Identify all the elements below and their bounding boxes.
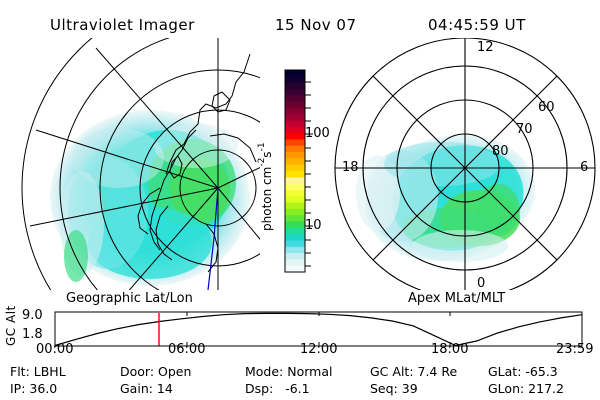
mlt-label-18: 18 — [342, 160, 359, 175]
mlt-latitude-70: 70 — [516, 122, 533, 137]
orbit-altitude-curve — [55, 313, 582, 345]
mlt-subtitle: Apex MLat/MLT — [408, 291, 505, 306]
mlt-label-0: 0 — [477, 276, 485, 291]
status-glat: GLat: -65.3 — [488, 363, 564, 380]
mlt-polar-svg — [330, 38, 600, 290]
time-tick-1200: 12:00 — [300, 342, 337, 357]
status-filter: Flt: LBHL — [10, 363, 66, 380]
status-column-coords: GLat: -65.3 GLon: 217.2 — [488, 363, 564, 397]
mlt-polar-panel[interactable]: 12 6 0 18 60 70 80 — [330, 38, 600, 290]
geographic-image-panel[interactable] — [0, 38, 260, 290]
status-glon: GLon: 217.2 — [488, 380, 564, 397]
geographic-plot-svg — [0, 38, 260, 290]
colorbar-panel: photon cm-2s-1 100 10 — [255, 60, 335, 285]
status-column-flight: Flt: LBHL IP: 36.0 — [10, 363, 66, 397]
time-tick-1800: 18:00 — [431, 342, 468, 357]
status-ip: IP: 36.0 — [10, 380, 66, 397]
time-tick-0600: 06:00 — [168, 342, 205, 357]
colorbar-tick-100: 100 — [305, 126, 330, 141]
status-mode: Mode: Normal — [245, 363, 332, 380]
orbit-x-tickmarks — [55, 312, 582, 346]
mlt-latitude-80: 80 — [492, 144, 509, 159]
observation-date: 15 Nov 07 — [275, 16, 357, 34]
status-column-mode: Mode: Normal Dsp: -6.1 — [245, 363, 332, 397]
colorbar-ticks — [305, 82, 313, 266]
time-tick-0000: 00:00 — [36, 342, 73, 357]
mlt-label-12: 12 — [477, 40, 494, 55]
mlt-label-6: 6 — [580, 160, 588, 175]
colorbar-tick-10: 10 — [305, 218, 322, 233]
status-door: Door: Open — [120, 363, 191, 380]
status-gc-alt: GC Alt: 7.4 Re — [370, 363, 457, 380]
instrument-title: Ultraviolet Imager — [50, 16, 195, 34]
time-tick-2359: 23:59 — [556, 342, 593, 357]
status-column-altitude: GC Alt: 7.4 Re Seq: 39 — [370, 363, 457, 397]
geographic-subtitle: Geographic Lat/Lon — [66, 291, 193, 306]
status-gain: Gain: 14 — [120, 380, 191, 397]
colorbar-svg — [255, 60, 335, 285]
header-bar: Ultraviolet Imager 15 Nov 07 04:45:59 UT — [0, 8, 600, 32]
status-seq: Seq: 39 — [370, 380, 457, 397]
colorbar-gradient — [285, 70, 305, 273]
mlt-latitude-60: 60 — [538, 100, 555, 115]
status-footer: Flt: LBHL IP: 36.0 Door: Open Gain: 14 M… — [0, 363, 600, 399]
status-dsp: Dsp: -6.1 — [245, 380, 332, 397]
observation-time: 04:45:59 UT — [428, 16, 526, 34]
aurora-emission-geographic — [50, 110, 250, 286]
status-column-door: Door: Open Gain: 14 — [120, 363, 191, 397]
